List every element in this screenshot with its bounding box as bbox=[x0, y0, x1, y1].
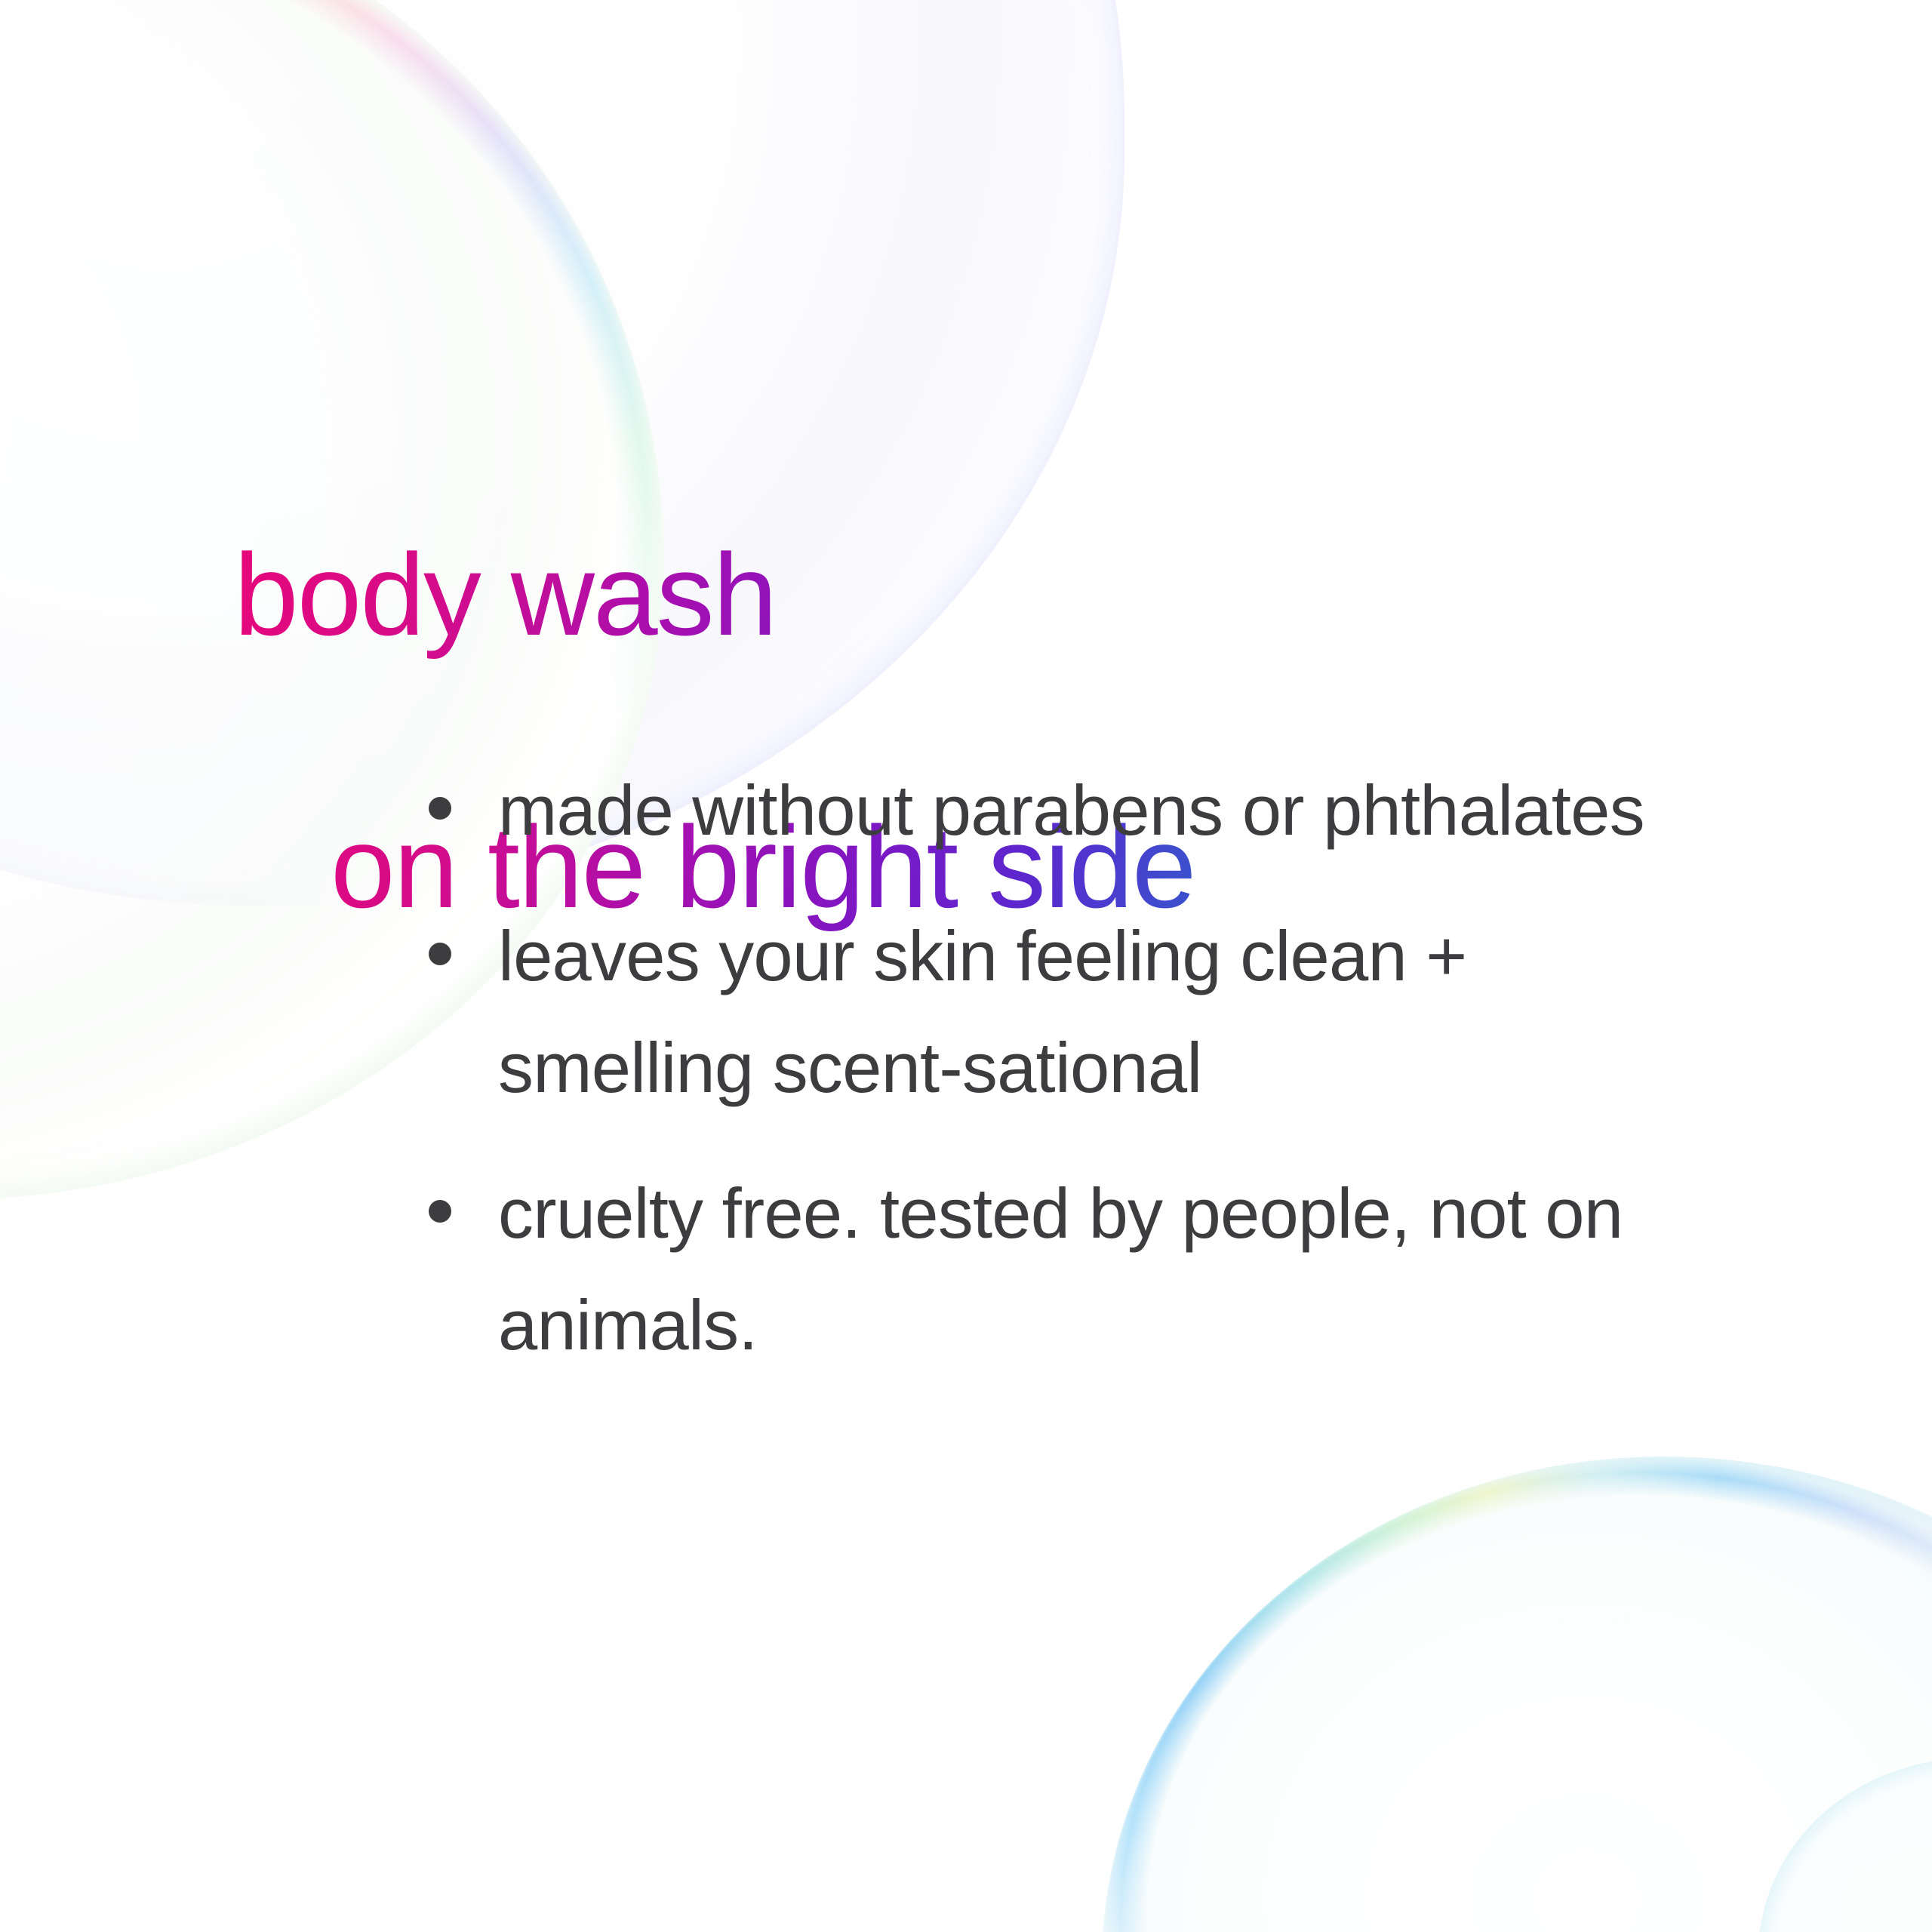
bullet-dot-icon bbox=[429, 797, 451, 820]
list-item: leaves your skin feeling clean + smellin… bbox=[423, 900, 1660, 1124]
list-item-label: made without parabens or phthalates bbox=[498, 771, 1644, 850]
list-item-label: cruelty free. tested by people, not on a… bbox=[498, 1174, 1623, 1365]
list-item: cruelty free. tested by people, not on a… bbox=[423, 1158, 1660, 1382]
content-layer: body wash on the bright side made withou… bbox=[0, 0, 1932, 1932]
bullet-dot-icon bbox=[429, 1200, 451, 1223]
feature-list: made without parabens or phthalates leav… bbox=[423, 755, 1660, 1382]
product-feature-card: body wash on the bright side made withou… bbox=[0, 0, 1932, 1932]
page-title-line-1: body wash bbox=[234, 527, 1743, 663]
list-item-label: leaves your skin feeling clean + smellin… bbox=[498, 916, 1466, 1108]
bullet-dot-icon bbox=[429, 943, 451, 965]
list-item: made without parabens or phthalates bbox=[423, 755, 1660, 867]
